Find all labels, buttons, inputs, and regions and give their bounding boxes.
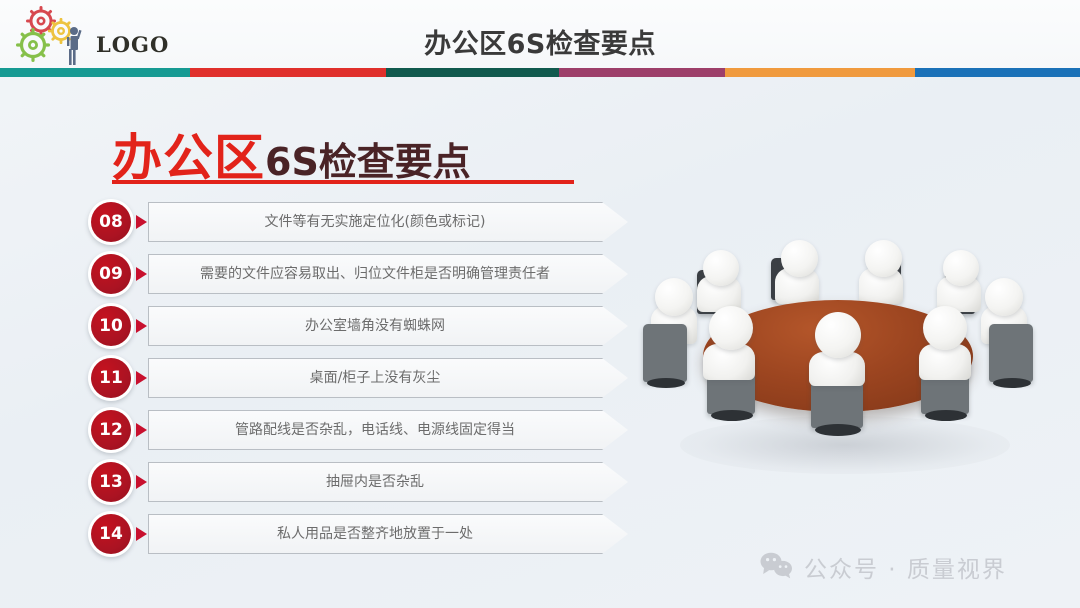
figure-head: [655, 278, 693, 316]
figure-head: [709, 306, 753, 350]
checklist-row[interactable]: 14 私人用品是否整齐地放置于一处: [0, 510, 660, 562]
checklist-arrow-icon: [136, 319, 147, 333]
checklist-number-badge: 12: [88, 407, 134, 453]
figure-head: [943, 250, 979, 286]
wechat-icon: [760, 551, 794, 584]
figure-head: [781, 240, 818, 277]
checklist-number-badge: 10: [88, 303, 134, 349]
chair-leg: [815, 424, 861, 436]
checklist-row[interactable]: 13 抽屉内是否杂乱: [0, 458, 660, 510]
figure-head: [703, 250, 739, 286]
checklist-row[interactable]: 11 桌面/柜子上没有灰尘: [0, 354, 660, 406]
main-heading-red: 办公区: [112, 129, 265, 187]
checklist-number: 12: [91, 410, 131, 450]
title-underline: [112, 180, 574, 184]
figure-head: [865, 240, 902, 277]
color-bar-segment-orange: [725, 68, 915, 77]
checklist-arrow-icon: [136, 423, 147, 437]
checklist-number-badge: 13: [88, 459, 134, 505]
watermark-text: 公众号 · 质量视界: [804, 550, 1007, 584]
color-bar-segment-dark-green: [386, 68, 559, 77]
checklist-arrow-icon: [136, 475, 147, 489]
checklist-item-text: 文件等有无实施定位化(颜色或标记): [148, 202, 628, 242]
figure-head: [923, 306, 967, 350]
checklist-number: 13: [91, 462, 131, 502]
checklist-item-text: 抽屉内是否杂乱: [148, 462, 628, 502]
chair: [989, 324, 1033, 382]
checklist-number: 11: [91, 358, 131, 398]
main-heading-dark: 6S检查要点: [265, 140, 471, 184]
slide-header: LOGO 办公区6S检查要点: [0, 0, 1080, 68]
checklist-number: 10: [91, 306, 131, 346]
checklist-arrow-icon: [136, 527, 147, 541]
checklist-item-text: 需要的文件应容易取出、归位文件柜是否明确管理责任者: [148, 254, 628, 294]
checklist-number-badge: 14: [88, 511, 134, 557]
checklist-item-text: 管路配线是否杂乱，电话线、电源线固定得当: [148, 410, 628, 450]
checklist-arrow-icon: [136, 371, 147, 385]
meeting-table-3d-figures-image: [625, 228, 1075, 528]
checklist-row[interactable]: 12 管路配线是否杂乱，电话线、电源线固定得当: [0, 406, 660, 458]
figure-head: [985, 278, 1023, 316]
checklist-row[interactable]: 08 文件等有无实施定位化(颜色或标记): [0, 198, 660, 250]
watermark: 公众号 · 质量视界: [760, 550, 1007, 584]
checklist-number-badge: 11: [88, 355, 134, 401]
page-title: 办公区6S检查要点: [0, 22, 1080, 61]
chair-leg: [993, 378, 1031, 388]
checklist-number-badge: 09: [88, 251, 134, 297]
checklist-number: 09: [91, 254, 131, 294]
chair-leg: [647, 378, 685, 388]
header-color-bar: [0, 68, 1080, 77]
checklist-row[interactable]: 09 需要的文件应容易取出、归位文件柜是否明确管理责任者: [0, 250, 660, 302]
slide-canvas: LOGO 办公区6S检查要点 办公区6S检查要点 08 文件等有无实施定位化(颜…: [0, 0, 1080, 608]
chair: [643, 324, 687, 382]
color-bar-segment-teal: [0, 68, 190, 77]
checklist-arrow-icon: [136, 267, 147, 281]
chair-leg: [711, 410, 753, 421]
checklist-item-text: 桌面/柜子上没有灰尘: [148, 358, 628, 398]
figure-head: [815, 312, 861, 358]
color-bar-segment-red: [190, 68, 386, 77]
checklist-number: 14: [91, 514, 131, 554]
chair-leg: [925, 410, 967, 421]
color-bar-segment-blue: [915, 68, 1080, 77]
checklist-row[interactable]: 10 办公室墙角没有蜘蛛网: [0, 302, 660, 354]
color-bar-segment-purple: [559, 68, 725, 77]
checklist: 08 文件等有无实施定位化(颜色或标记) 09 需要的文件应容易取出、归位文件柜…: [0, 198, 660, 562]
checklist-item-text: 办公室墙角没有蜘蛛网: [148, 306, 628, 346]
checklist-arrow-icon: [136, 215, 147, 229]
checklist-number-badge: 08: [88, 199, 134, 245]
checklist-item-text: 私人用品是否整齐地放置于一处: [148, 514, 628, 554]
checklist-number: 08: [91, 202, 131, 242]
